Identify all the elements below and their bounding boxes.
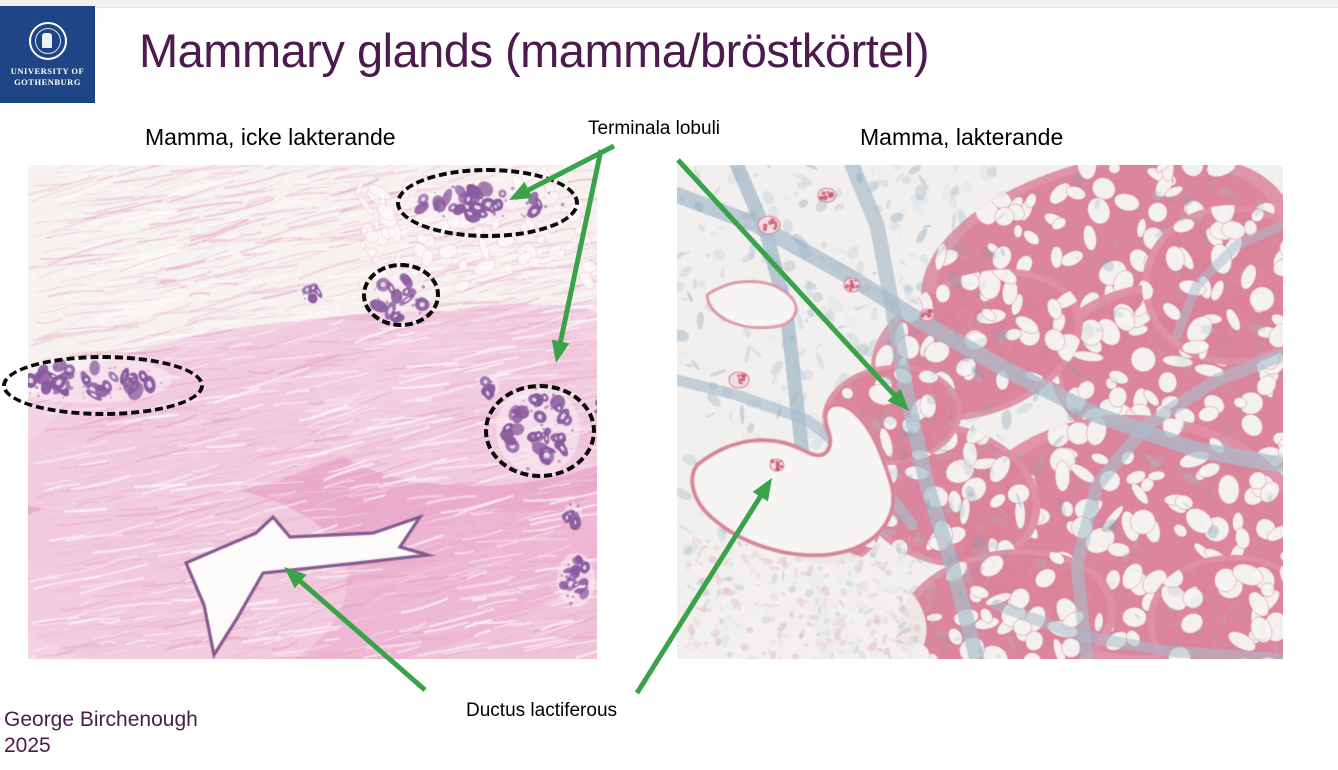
ellipse-terminal-lobule-mid [362,263,440,327]
top-strip [0,0,1338,8]
footer-author: George Birchenough [4,707,198,733]
ellipse-terminal-lobule-left [2,355,204,416]
label-ductus-lactiferous: Ductus lactiferous [466,700,617,722]
university-of-gothenburg-logo: UNIVERSITY OF GOTHENBURG [0,6,95,103]
footer-year: 2025 [4,733,198,759]
footer-credit: George Birchenough 2025 [4,707,198,759]
logo-line-2: GOTHENBURG [11,77,85,88]
page-title: Mammary glands (mamma/bröstkörtel) [139,23,929,79]
university-seal-icon [29,22,67,60]
logo-line-1: UNIVERSITY OF [11,66,85,77]
micrograph-lactating-mammary-gland [677,165,1283,659]
ellipse-terminal-lobule-top [396,168,579,238]
caption-non-lactating: Mamma, icke lakterande [145,124,396,151]
caption-lactating: Mamma, lakterande [860,124,1063,151]
ellipse-terminal-lobule-right [484,384,596,478]
slide-canvas: UNIVERSITY OF GOTHENBURG Mammary glands … [0,0,1338,770]
label-terminala-lobuli: Terminala lobuli [588,118,720,140]
